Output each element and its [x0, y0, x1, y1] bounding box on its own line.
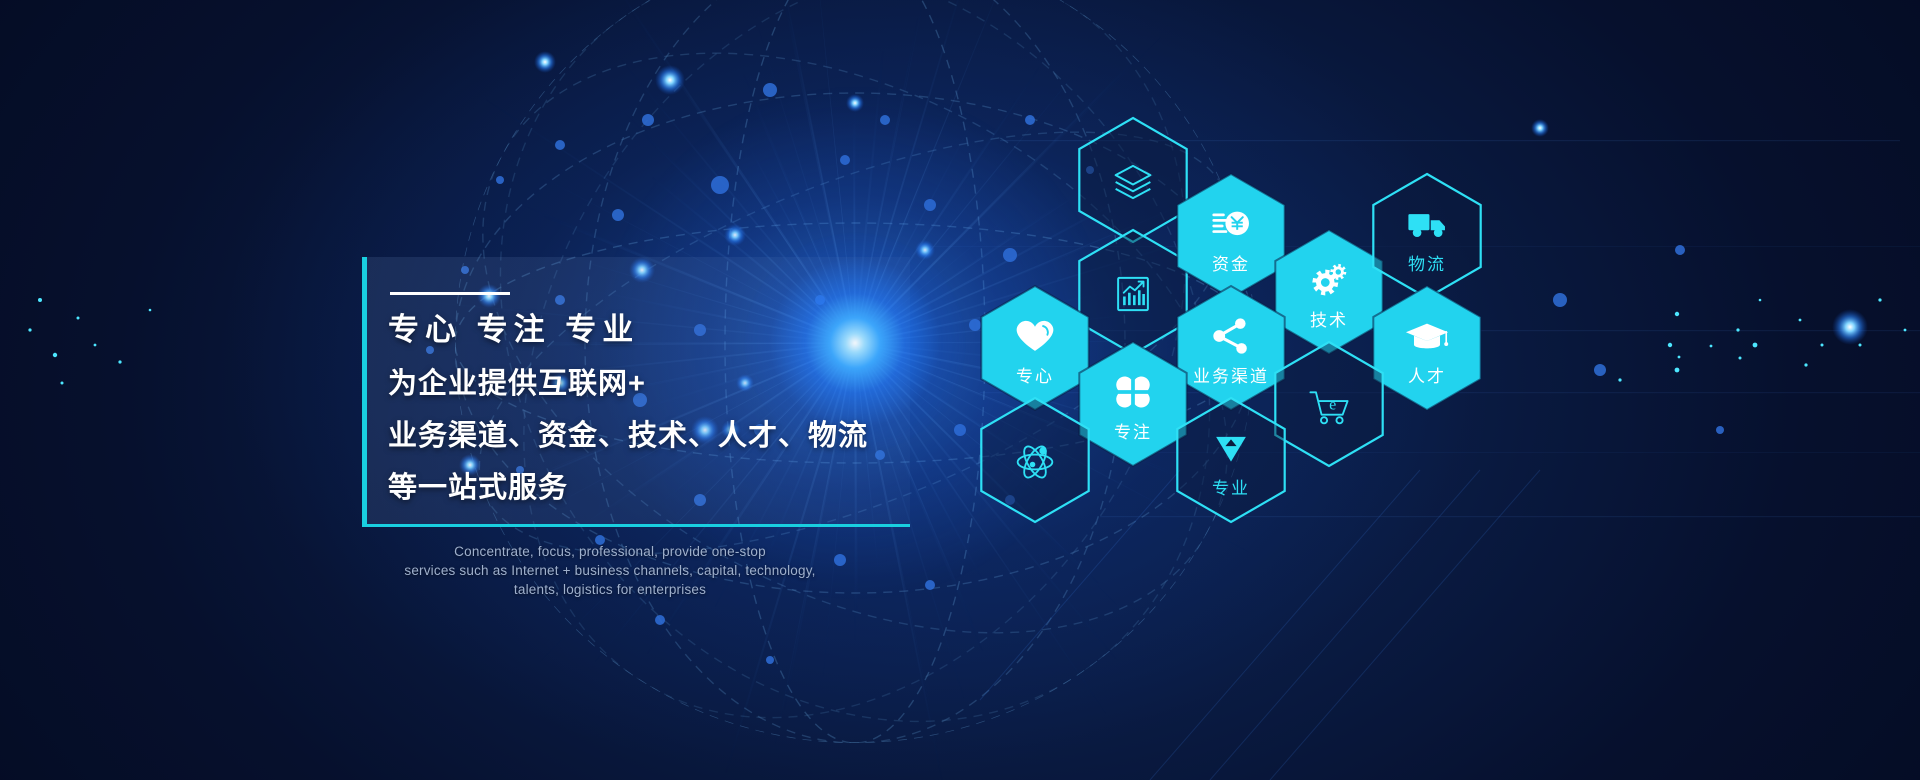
- hexagon-label-layer: 资金技术物流专心业务渠道人才专注专业: [0, 0, 1920, 780]
- hexagon-label-wuliu: 物流: [1327, 250, 1527, 275]
- hexagon-label-zhuanzhu: 专注: [1033, 418, 1233, 443]
- hexagon-label-rencai: 人才: [1327, 362, 1527, 387]
- hero-banner: 专心 专注 专业 为企业提供互联网+ 业务渠道、资金、技术、人才、物流 等一站式…: [0, 0, 1920, 780]
- hexagon-label-zhuanxin: 专心: [935, 362, 1135, 387]
- hexagon-label-yewu: 业务渠道: [1131, 362, 1331, 387]
- hexagon-label-zhuanye: 专业: [1131, 474, 1331, 499]
- hexagon-label-zijin: 资金: [1131, 250, 1331, 275]
- hexagon-label-jishu: 技术: [1229, 306, 1429, 331]
